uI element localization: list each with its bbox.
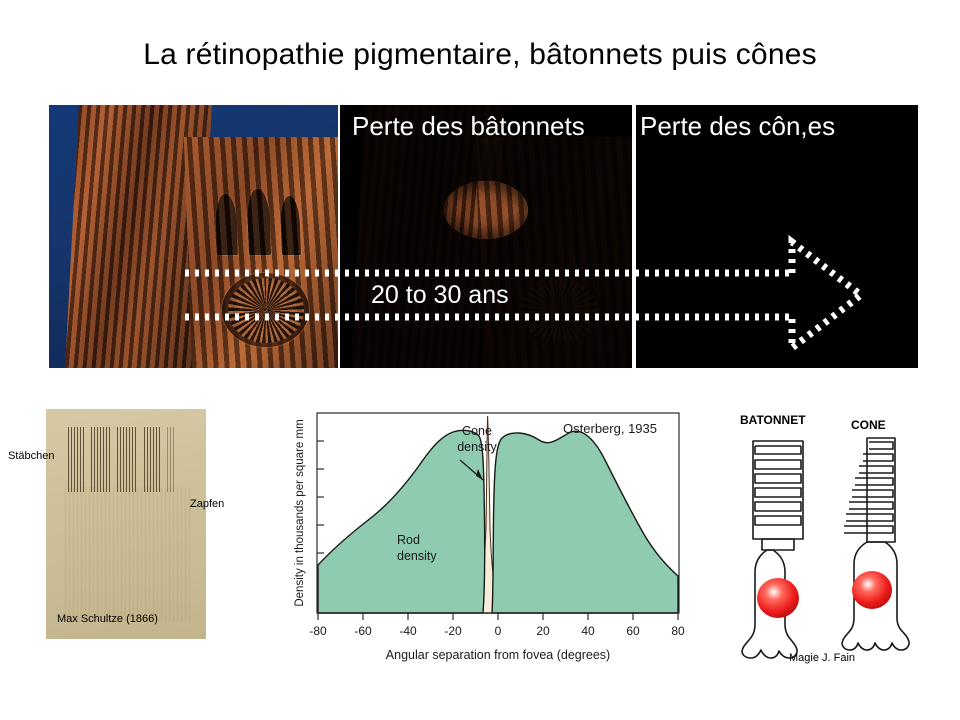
photoreceptor-svg <box>715 408 955 673</box>
panel-label-cone-loss: Perte des côn,es <box>640 111 835 142</box>
plate-credit: Max Schultze (1866) <box>57 613 158 625</box>
cone-nucleus-icon <box>852 571 892 609</box>
rod-bundles <box>68 427 190 491</box>
rod-bundle <box>68 427 84 491</box>
x-tick-label: 80 <box>671 624 685 638</box>
rod-nucleus-icon <box>757 578 799 618</box>
x-tick-label: -40 <box>399 624 417 638</box>
photo-row: Perte des bâtonnets Perte des côn,es <box>0 105 960 368</box>
window-icon <box>215 193 238 255</box>
rod-bundle <box>144 427 160 491</box>
schultze-plate <box>46 409 206 639</box>
x-tick-label: 0 <box>495 624 502 638</box>
cone-cell-label: CONE <box>851 418 886 432</box>
cone-cell-icon <box>842 438 909 650</box>
x-tick-label: 40 <box>581 624 595 638</box>
rod-bundle <box>91 427 109 491</box>
tunnel-vision-ellipse <box>444 181 528 239</box>
panel-rod-loss: Perte des bâtonnets <box>340 105 632 368</box>
panel-label-rod-loss: Perte des bâtonnets <box>352 111 585 142</box>
window-icon <box>280 196 301 255</box>
x-tick-label: -80 <box>309 624 327 638</box>
x-tick-label: 20 <box>536 624 550 638</box>
density-chart: -80 -60 -40 -20 0 20 40 60 80 Angular se… <box>287 408 687 673</box>
plate-label-rods: Stäbchen <box>8 450 54 462</box>
panel-cone-loss: Perte des côn,es <box>636 105 918 368</box>
photoreceptor-diagram <box>715 408 955 673</box>
y-axis-label: Density in thousands per square mm <box>294 419 306 606</box>
plate-label-cones: Zapfen <box>190 498 224 510</box>
rod-cell-icon <box>742 441 803 658</box>
cone-density-label-line2: density <box>457 440 497 454</box>
page-title: La rétinopathie pigmentaire, bâtonnets p… <box>0 38 960 72</box>
slide-root: La rétinopathie pigmentaire, bâtonnets p… <box>0 0 960 720</box>
x-tick-label: -60 <box>354 624 372 638</box>
diagram-credit: Magie J. Fain <box>789 652 855 664</box>
x-axis-label: Angular separation from fovea (degrees) <box>386 648 610 662</box>
x-tick-labels: -80 -60 -40 -20 0 20 40 60 80 <box>309 624 685 638</box>
tunnel-mask <box>444 181 528 239</box>
progression-label: 20 to 30 ans <box>371 281 509 310</box>
rod-density-label-line1: Rod <box>397 533 420 547</box>
density-chart-svg: -80 -60 -40 -20 0 20 40 60 80 Angular se… <box>287 408 687 673</box>
rod-cell-label: BATONNET <box>740 413 806 427</box>
cone-density-label-line1: Cone <box>462 424 492 438</box>
chart-source-label: Osterberg, 1935 <box>563 421 657 436</box>
panel-normal-vision <box>49 105 338 368</box>
window-icon <box>247 189 270 255</box>
plate-texture <box>65 487 190 620</box>
rod-bundle <box>117 427 136 491</box>
x-tick-label: -20 <box>444 624 462 638</box>
x-tick-label: 60 <box>626 624 640 638</box>
cathedral-photo-icon <box>49 105 338 368</box>
x-axis-ticks <box>318 613 678 620</box>
rose-window-icon <box>222 273 309 347</box>
rod-density-label-line2: density <box>397 549 437 563</box>
rod-bundle <box>167 427 176 491</box>
